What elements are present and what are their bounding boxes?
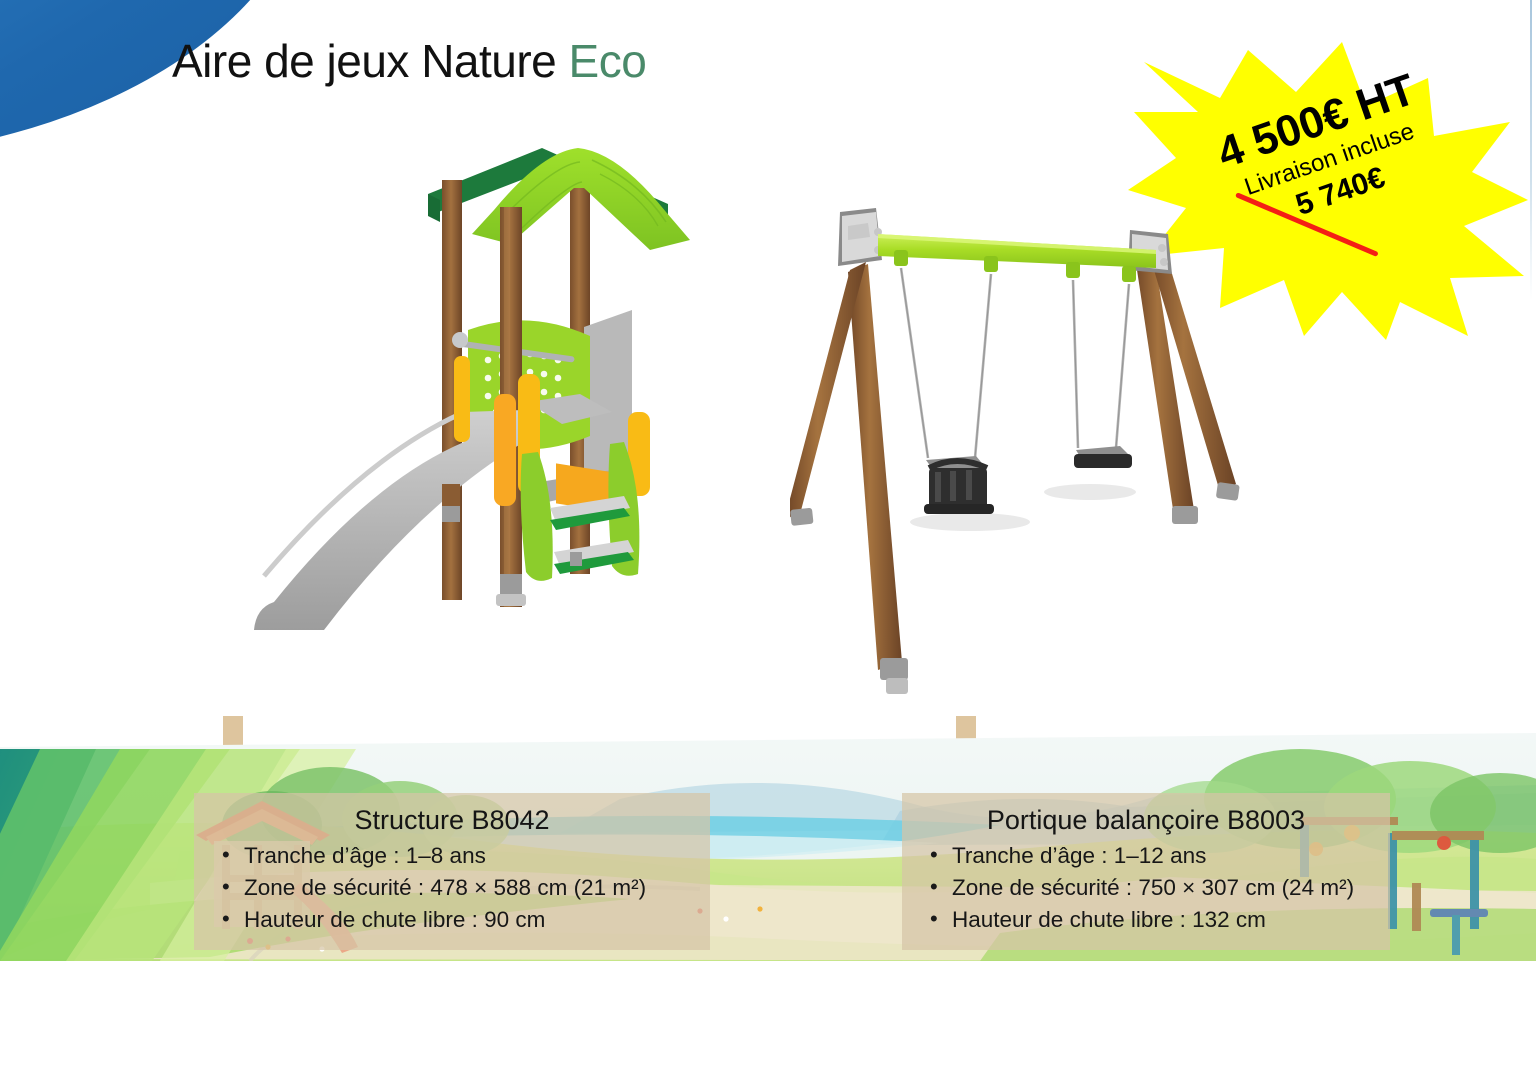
swing-set-photo bbox=[790, 192, 1270, 707]
page-title: Aire de jeux Nature Eco bbox=[172, 34, 646, 88]
product-title: Portique balançoire B8003 bbox=[920, 805, 1372, 836]
spec-fall-height: Hauteur de chute libre : 132 cm bbox=[926, 904, 1372, 936]
poster-page: Aire de jeux Nature Eco 4 500€ HT Livrai… bbox=[0, 0, 1536, 1086]
spec-safety-zone: Zone de sécurité : 750 × 307 cm (24 m²) bbox=[926, 872, 1372, 904]
product-title: Structure B8042 bbox=[212, 805, 692, 836]
title-main-text: Aire de jeux Nature bbox=[172, 35, 556, 87]
playground-structure-photo bbox=[232, 112, 702, 712]
title-accent-text: Eco bbox=[569, 35, 647, 87]
spec-safety-zone: Zone de sécurité : 478 × 588 cm (21 m²) bbox=[218, 872, 692, 904]
product-info-box-swing: Portique balançoire B8003 Tranche d’âge … bbox=[902, 793, 1390, 950]
spec-age-range: Tranche d’âge : 1–8 ans bbox=[218, 840, 692, 872]
spec-age-range: Tranche d’âge : 1–12 ans bbox=[926, 840, 1372, 872]
spec-fall-height: Hauteur de chute libre : 90 cm bbox=[218, 904, 692, 936]
product-info-box-structure: Structure B8042 Tranche d’âge : 1–8 ans … bbox=[194, 793, 710, 950]
footer-bar: AGORA Loisirs 18 boulevard Guillet Maill… bbox=[0, 961, 1536, 1086]
right-edge-line-decoration bbox=[1530, 0, 1532, 300]
product-specs-list: Tranche d’âge : 1–12 ans Zone de sécurit… bbox=[920, 840, 1372, 936]
product-specs-list: Tranche d’âge : 1–8 ans Zone de sécurité… bbox=[212, 840, 692, 936]
